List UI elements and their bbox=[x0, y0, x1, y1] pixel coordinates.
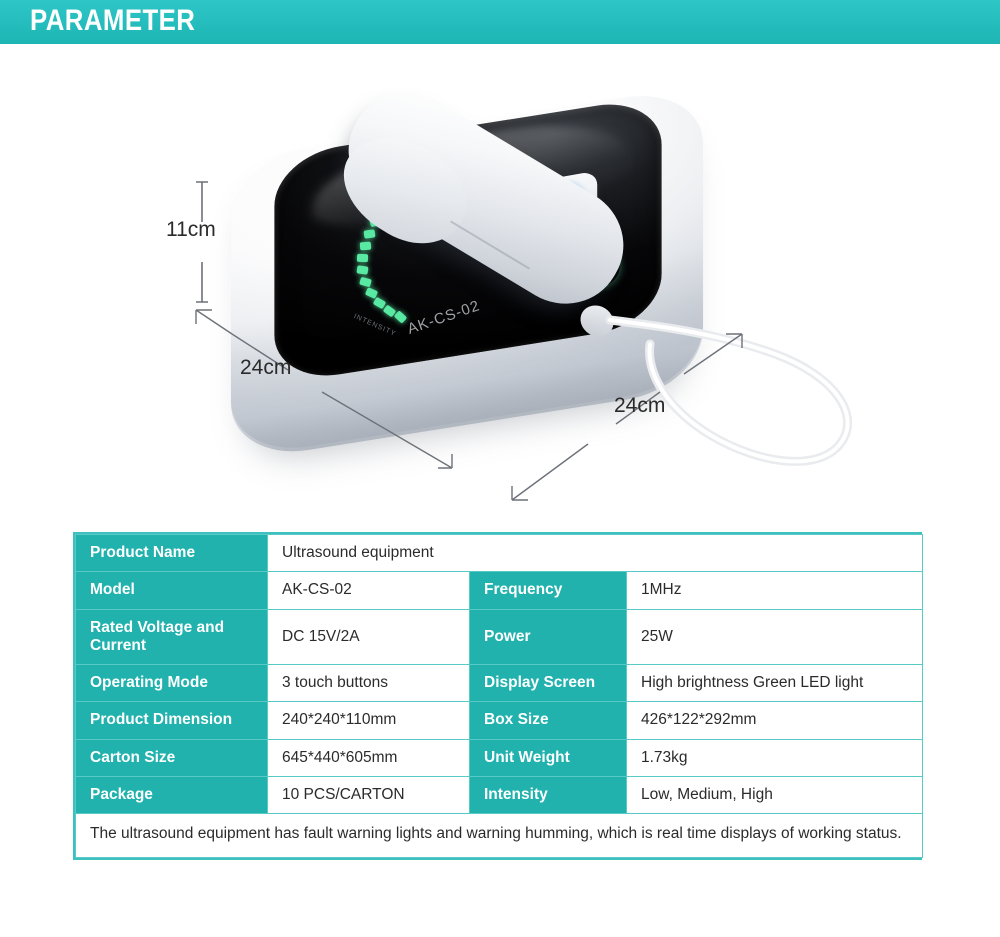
spec-value-package: 10 PCS/CARTON bbox=[268, 776, 470, 813]
table-row: Carton Size 645*440*605mm Unit Weight 1.… bbox=[76, 739, 923, 776]
spec-label-box-size: Box Size bbox=[470, 702, 627, 739]
spec-label-unit-weight: Unit Weight bbox=[470, 739, 627, 776]
spec-value-carton-size: 645*440*605mm bbox=[268, 739, 470, 776]
spec-value-display-screen: High brightness Green LED light bbox=[627, 665, 923, 702]
table-row: Product Dimension 240*240*110mm Box Size… bbox=[76, 702, 923, 739]
spec-value-operating-mode: 3 touch buttons bbox=[268, 665, 470, 702]
spec-table-body: Product Name Ultrasound equipment Model … bbox=[76, 535, 923, 858]
spec-value-product-name: Ultrasound equipment bbox=[268, 535, 923, 572]
spec-value-model: AK-CS-02 bbox=[268, 572, 470, 609]
spec-label-frequency: Frequency bbox=[470, 572, 627, 609]
product-photo: INTENSITY AK-CS-02 11cm 24cm 24cm bbox=[0, 44, 1000, 514]
dimension-label-depth: 24cm bbox=[614, 394, 665, 418]
spec-value-box-size: 426*122*292mm bbox=[627, 702, 923, 739]
spec-label-power: Power bbox=[470, 609, 627, 665]
dimension-label-height: 11cm bbox=[166, 218, 216, 242]
spec-value-power: 25W bbox=[627, 609, 923, 665]
spec-label-package: Package bbox=[76, 776, 268, 813]
spec-label-operating-mode: Operating Mode bbox=[76, 665, 268, 702]
spec-value-product-dimension: 240*240*110mm bbox=[268, 702, 470, 739]
spec-note: The ultrasound equipment has fault warni… bbox=[76, 814, 923, 858]
specification-table: Product Name Ultrasound equipment Model … bbox=[73, 532, 922, 860]
spec-label-model: Model bbox=[76, 572, 268, 609]
table-row: Package 10 PCS/CARTON Intensity Low, Med… bbox=[76, 776, 923, 813]
table-row: Model AK-CS-02 Frequency 1MHz bbox=[76, 572, 923, 609]
spec-label-rated-voltage-current: Rated Voltage and Current bbox=[76, 609, 268, 665]
spec-value-frequency: 1MHz bbox=[627, 572, 923, 609]
spec-value-intensity: Low, Medium, High bbox=[627, 776, 923, 813]
table-row-note: The ultrasound equipment has fault warni… bbox=[76, 814, 923, 858]
spec-label-carton-size: Carton Size bbox=[76, 739, 268, 776]
spec-value-unit-weight: 1.73kg bbox=[627, 739, 923, 776]
spec-label-intensity: Intensity bbox=[470, 776, 627, 813]
table-row: Product Name Ultrasound equipment bbox=[76, 535, 923, 572]
spec-label-product-dimension: Product Dimension bbox=[76, 702, 268, 739]
page-title: PARAMETER bbox=[30, 4, 195, 38]
table-row: Rated Voltage and Current DC 15V/2A Powe… bbox=[76, 609, 923, 665]
dimension-label-width: 24cm bbox=[240, 356, 291, 380]
spec-value-rated-voltage-current: DC 15V/2A bbox=[268, 609, 470, 665]
dimension-leader-lines bbox=[0, 44, 1000, 514]
spec-label-product-name: Product Name bbox=[76, 535, 268, 572]
spec-label-display-screen: Display Screen bbox=[470, 665, 627, 702]
table-row: Operating Mode 3 touch buttons Display S… bbox=[76, 665, 923, 702]
